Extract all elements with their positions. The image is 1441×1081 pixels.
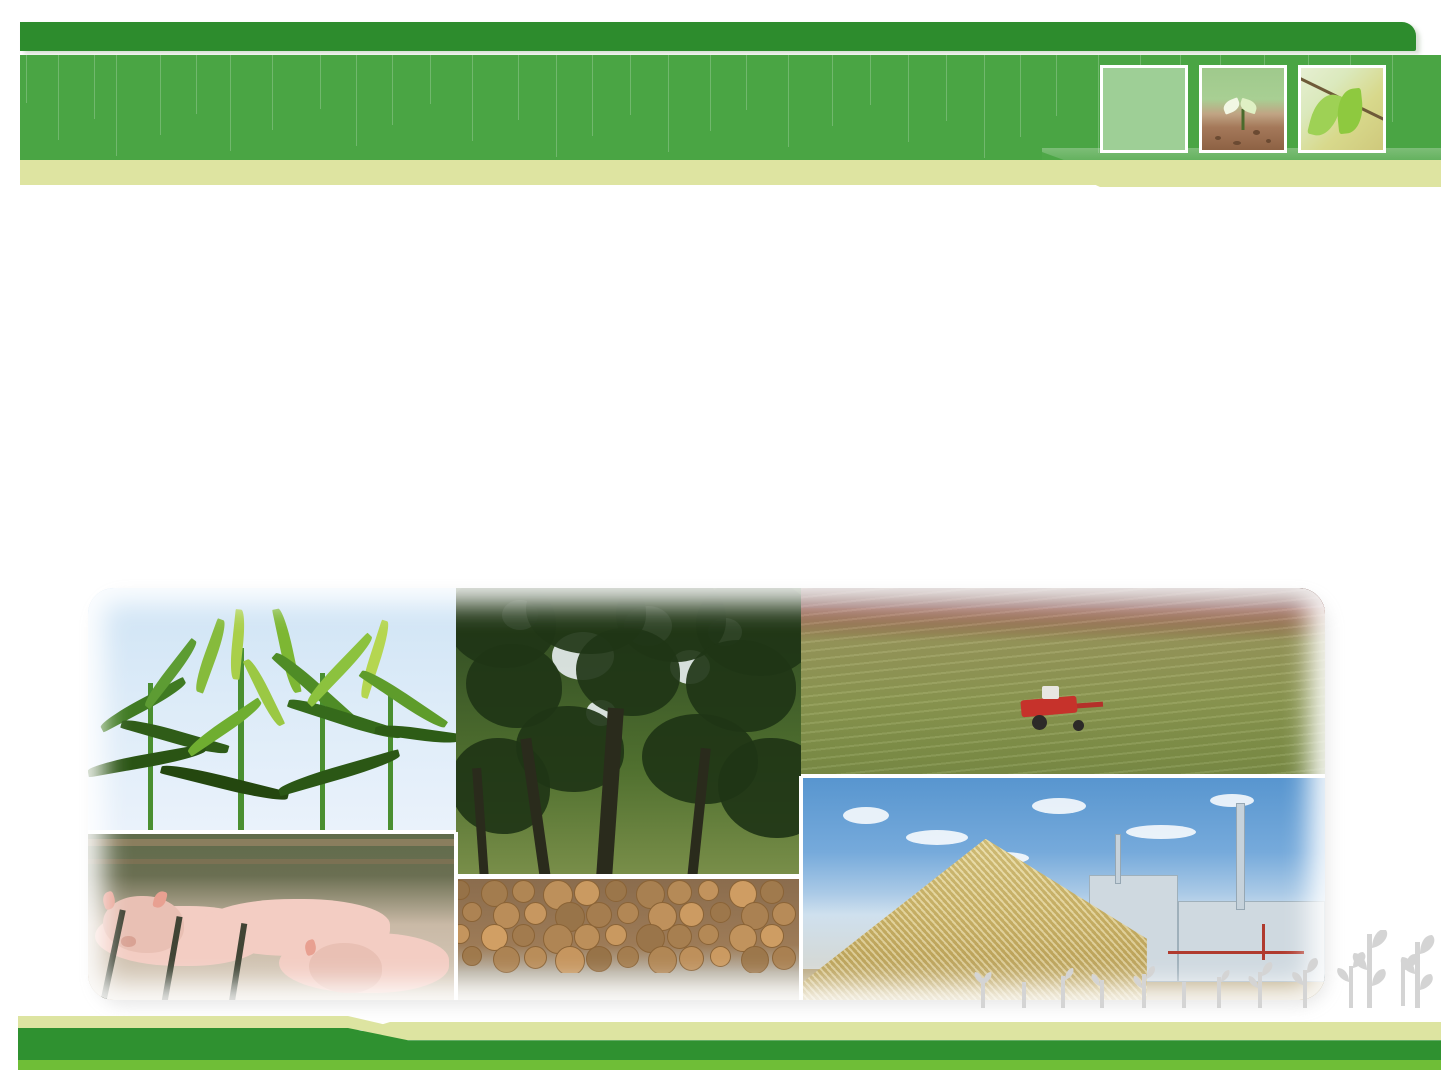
log-end <box>710 946 731 967</box>
seedling-in-soil-icon <box>1202 68 1284 150</box>
cloud <box>1126 825 1196 839</box>
log-end <box>617 946 639 968</box>
biomass-photo-collage <box>88 588 1325 1000</box>
slide-header <box>0 0 1441 190</box>
log-end <box>555 946 585 976</box>
sugarcane-leaf <box>277 749 402 796</box>
sugarcane-leaf <box>160 761 289 805</box>
footer-light-green-strip <box>18 1060 1441 1070</box>
header-pale-band-step <box>1042 160 1441 187</box>
log-end <box>760 924 784 948</box>
log-end <box>772 946 796 970</box>
pen-rail-top <box>88 839 456 846</box>
log-end <box>586 946 612 972</box>
plant-secondary-building <box>1178 901 1325 982</box>
log-yard-ground <box>456 973 801 1000</box>
log-end <box>679 946 704 971</box>
sprout-stem <box>1242 109 1245 130</box>
log-end <box>605 924 627 946</box>
collage-panel-logs <box>456 878 801 1000</box>
collage-panel-forest <box>456 588 801 878</box>
cloud <box>843 807 889 824</box>
plant-pipe-run <box>1168 951 1304 954</box>
log-end <box>772 902 796 926</box>
pig-snout <box>121 936 136 947</box>
top-dark-green-bar <box>20 22 1416 51</box>
woodchip-pile <box>801 839 1147 1000</box>
sugarcane-leaf <box>243 657 285 728</box>
log-end <box>679 902 704 927</box>
log-end <box>493 946 520 973</box>
plain-green-swatch-icon <box>1103 68 1185 150</box>
header-thumbnail-plain-green <box>1100 65 1188 153</box>
sugarcane-leaf <box>141 638 200 709</box>
log-end <box>512 880 535 903</box>
panel-gap <box>88 830 456 834</box>
soil-spot <box>1266 139 1271 143</box>
log-end <box>605 880 627 902</box>
presentation-slide <box>0 0 1441 1081</box>
soil-spot <box>1233 141 1241 145</box>
sprout-leaf-left <box>1222 98 1242 115</box>
log-end <box>648 946 677 975</box>
cloud <box>906 830 968 845</box>
collage-panel-pigs <box>88 832 456 1000</box>
soil-spot <box>1215 136 1221 140</box>
footer-pale-band-step <box>330 1022 1441 1040</box>
collage-panel-sugarcane <box>88 588 456 832</box>
log-end <box>456 880 470 900</box>
sugarcane-leaf <box>192 618 229 694</box>
panel-gap <box>456 874 801 879</box>
plant-pipe-riser <box>1262 924 1265 960</box>
collage-panel-biomass-plant <box>801 776 1325 1000</box>
log-end <box>462 902 482 922</box>
tractor-wheel-rear <box>1032 715 1047 730</box>
plant-smokestack-small <box>1115 834 1121 883</box>
plant-smokestack-tall <box>1236 803 1245 911</box>
log-end <box>617 902 639 924</box>
log-end <box>512 924 535 947</box>
green-leaves-icon <box>1301 68 1383 150</box>
log-end <box>760 880 784 904</box>
header-thumbnail-seedling <box>1199 65 1287 153</box>
log-end <box>524 946 547 969</box>
log-end <box>698 924 719 945</box>
panel-gap <box>801 774 1325 778</box>
tractor-cab <box>1042 686 1059 699</box>
panel-gap <box>454 832 458 1000</box>
log-end <box>710 902 731 923</box>
cloud <box>1210 794 1254 807</box>
cloud <box>1032 798 1086 814</box>
log-end <box>524 902 547 925</box>
sugarcane-leaf <box>287 694 403 743</box>
woodchip-texture <box>801 839 1147 1000</box>
pen-rail-second <box>88 859 456 864</box>
log-end <box>741 946 769 974</box>
header-thumbnail-leaves <box>1298 65 1386 153</box>
log-end <box>456 924 470 944</box>
log-end <box>698 880 719 901</box>
log-end <box>462 946 482 966</box>
slide-footer <box>0 1016 1441 1081</box>
tree-canopy <box>718 738 801 838</box>
panel-gap <box>799 776 803 1000</box>
soil-spot <box>1253 130 1260 135</box>
